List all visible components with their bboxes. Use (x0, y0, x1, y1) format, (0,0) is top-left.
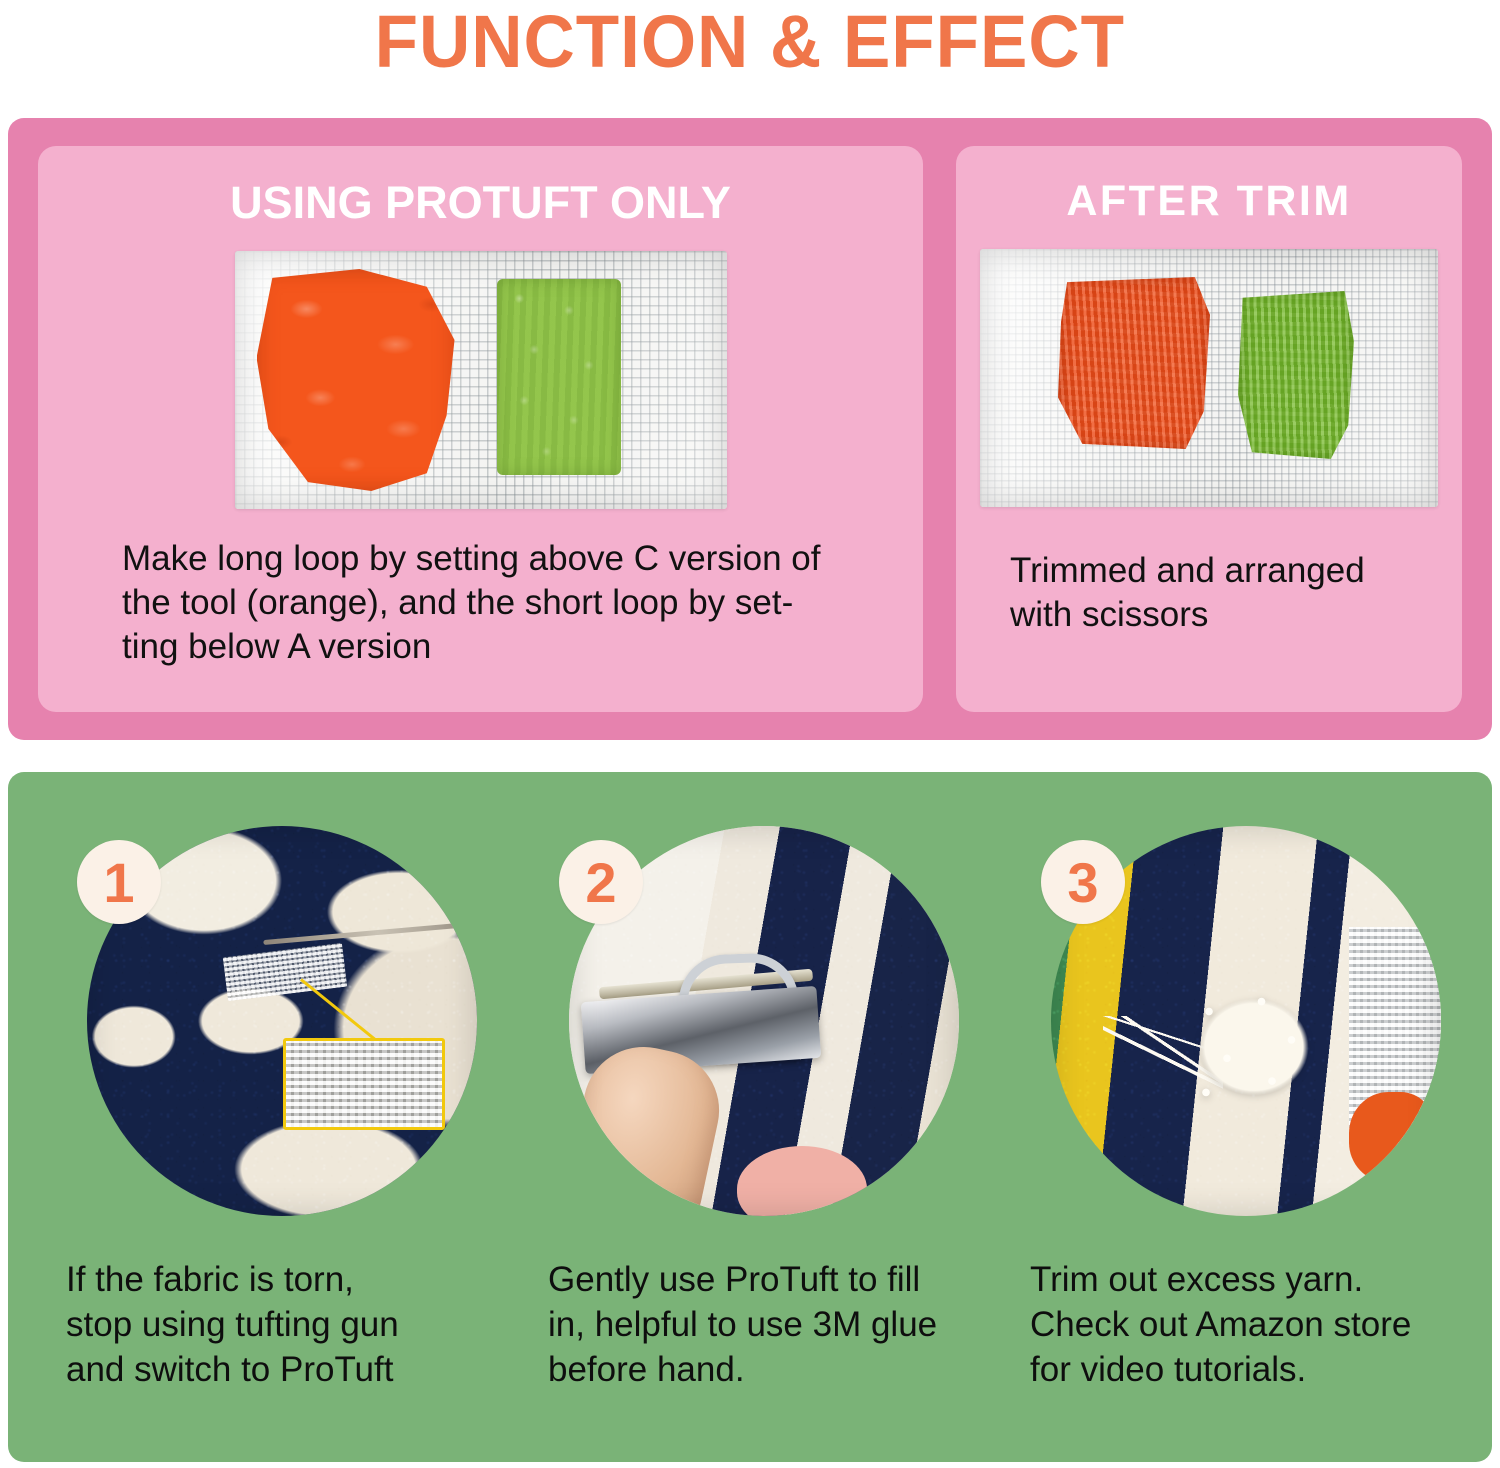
page-title-bar: FUNCTION & EFFECT (0, 0, 1500, 84)
page-title: FUNCTION & EFFECT (375, 5, 1125, 79)
function-effect-panel: USING PROTUFT ONLY Make long loop by set… (8, 118, 1492, 740)
step-item-2: 2 Gently use ProTuft to fill in, helpful… (526, 812, 974, 1438)
effect-cards-row: USING PROTUFT ONLY Make long loop by set… (38, 146, 1462, 712)
effect-card-after-trim: AFTER TRIM Trimmed and arranged with sci… (956, 146, 1462, 712)
green-short-loop-yarn (497, 279, 621, 475)
effect-card-caption: Trimmed and arranged with scissors (1010, 549, 1365, 637)
callout-zoom-box (283, 1038, 445, 1130)
step-number-badge-3: 3 (1041, 840, 1125, 924)
step-caption: Gently use ProTuft to fill in, helpful t… (526, 1258, 974, 1392)
step-number-badge-2: 2 (559, 840, 643, 924)
step-item-3: 3 Trim out excess yarn. Check out Amazon… (1008, 812, 1456, 1438)
photo-long-short-loops (235, 251, 727, 509)
step-photo-wrap: 2 (541, 812, 959, 1224)
green-trimmed-patch (1238, 291, 1354, 459)
step-photo-wrap: 1 (59, 812, 477, 1224)
effect-card-heading: USING PROTUFT ONLY (230, 180, 731, 225)
step-caption: Trim out excess yarn. Check out Amazon s… (1008, 1258, 1456, 1392)
orange-trimmed-patch (1058, 277, 1210, 449)
repair-steps-panel: 1 If the fabric is torn, stop using tuft… (8, 772, 1492, 1462)
step-number-badge-1: 1 (77, 840, 161, 924)
effect-card-heading: AFTER TRIM (1066, 180, 1351, 223)
mesh-sheen-overlay (980, 249, 1438, 507)
step-caption: If the fabric is torn, stop using tuftin… (44, 1258, 492, 1392)
photo-trimmed-patches (980, 249, 1438, 507)
infographic-page: FUNCTION & EFFECT USING PROTUFT ONLY Mak… (0, 0, 1500, 1468)
steps-row: 1 If the fabric is torn, stop using tuft… (44, 812, 1456, 1438)
effect-card-using-protuft-only: USING PROTUFT ONLY Make long loop by set… (38, 146, 923, 712)
step-item-1: 1 If the fabric is torn, stop using tuft… (44, 812, 492, 1438)
effect-card-caption: Make long loop by setting above C versio… (122, 537, 820, 669)
step-photo-wrap: 3 (1023, 812, 1441, 1224)
excess-white-yarn-tuft (1179, 976, 1329, 1118)
